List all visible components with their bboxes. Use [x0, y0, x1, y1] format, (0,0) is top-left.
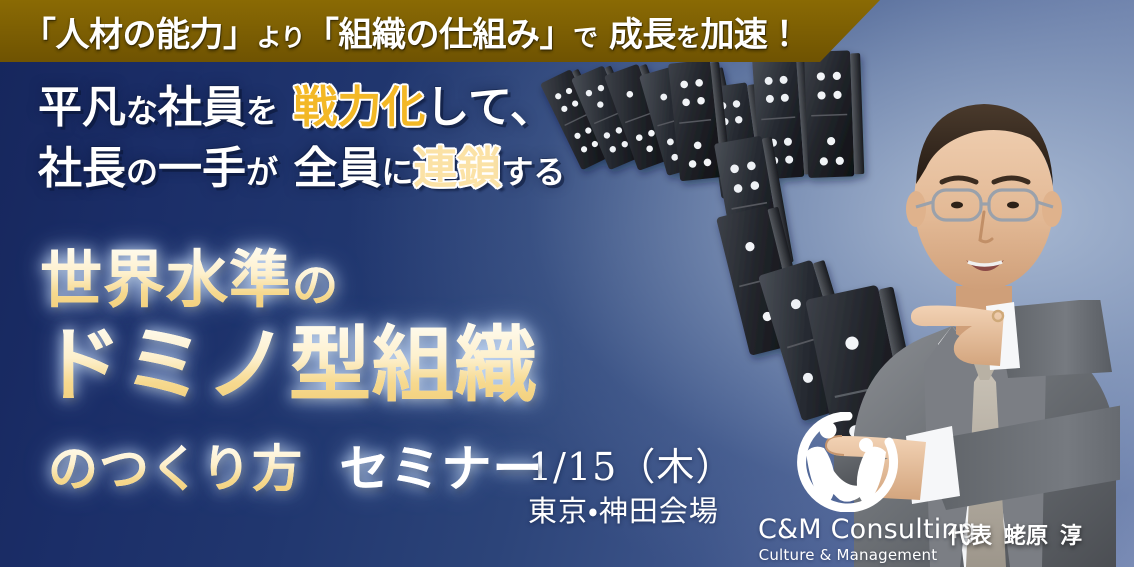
headline-l2-highlight: 連鎖	[413, 143, 501, 194]
ribbon-tail-1: 成長	[598, 15, 676, 55]
headline-l1-c: 社員	[158, 82, 246, 133]
presenter-family-name: 蛯原	[1004, 524, 1048, 549]
presenter-role: 代表	[948, 524, 992, 549]
headline-block: 平凡な社員を 戦力化して、 社長の一手が 全員に連鎖する	[38, 78, 698, 199]
ribbon-tail-2: 加速！	[700, 15, 801, 55]
headline-l2-b: の	[126, 153, 158, 191]
event-venue: 東京・神田会場	[528, 492, 734, 531]
ribbon-conn-2: で	[573, 23, 598, 52]
event-date-block: 1/15（木） 東京・神田会場	[528, 448, 734, 531]
ribbon-quote-2: 「組織の仕組み」	[305, 15, 573, 55]
company-logo-block: C&M Consulting Culture & Management	[758, 412, 938, 564]
headline-l1-d: を	[246, 92, 278, 130]
headline-l1-e: して、	[425, 82, 553, 133]
main-title-line-2: ドミノ型組織 ドミノ型組織	[40, 324, 538, 408]
main-title-line-1-text: 世界水準	[40, 243, 292, 316]
headline-l2-a: 社長	[38, 143, 126, 194]
headline-line-2: 社長の一手が 全員に連鎖する	[38, 139, 698, 200]
main-title-line-3-gold: のつくり方	[48, 440, 303, 498]
headline-l2-c: 一手	[158, 143, 246, 194]
headline-l2-e: 全員	[278, 143, 381, 194]
main-title-line-2-text: ドミノ型組織	[40, 318, 538, 413]
main-title-line-1: 世界水準 世界水準 の の	[40, 248, 339, 311]
presenter-name-block: 代表蛯原淳	[948, 518, 1082, 550]
logo-tagline: Culture & Management	[758, 546, 938, 564]
presenter-given-name: 淳	[1060, 524, 1082, 549]
headline-l1-highlight: 戦力化	[293, 82, 425, 133]
headline-l1-b: な	[126, 92, 158, 130]
main-title-line-3-white-glow: セミナー	[339, 444, 543, 495]
event-date: 1/15（木）	[528, 448, 734, 488]
seminar-banner: 「人材の能力」より「組織の仕組み」で 成長を加速！ 平凡な社員を 戦力化して、 …	[0, 0, 1134, 567]
logo-company-name: C&M Consulting	[758, 514, 938, 545]
ribbon-conn-1: より	[257, 23, 306, 52]
main-title-line-1-suffix: の	[292, 258, 339, 312]
cm-circle-swoosh-icon	[794, 412, 902, 512]
main-title-line-3: のつくり方 のつくり方 セミナー セミナー	[48, 444, 543, 495]
top-ribbon: 「人材の能力」より「組織の仕組み」で 成長を加速！	[0, 0, 880, 62]
ribbon-conn-3: を	[676, 23, 701, 52]
headline-l2-f: に	[381, 153, 413, 191]
headline-l2-d: が	[246, 153, 278, 191]
headline-l1-a: 平凡	[38, 82, 126, 133]
ribbon-text: 「人材の能力」より「組織の仕組み」で 成長を加速！	[22, 7, 801, 56]
headline-l2-g: する	[501, 153, 565, 191]
headline-line-1: 平凡な社員を 戦力化して、	[38, 78, 698, 139]
ribbon-quote-1: 「人材の能力」	[22, 15, 257, 55]
